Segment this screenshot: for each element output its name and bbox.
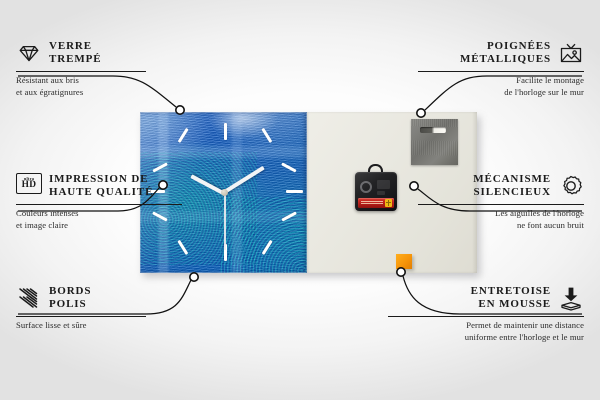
callout-header: ENTRETOISE EN MOUSSE (388, 283, 584, 313)
foam-spacer (396, 254, 412, 269)
callout-divider (418, 71, 584, 72)
hanger-slot (420, 127, 446, 133)
callout-header: BORDS POLIS (16, 283, 212, 313)
callout-title: VERRE TREMPÉ (49, 40, 101, 67)
callout-header: VERRE TREMPÉ (16, 38, 212, 68)
callout-divider (388, 316, 584, 317)
mechanism-detail (377, 191, 385, 195)
callout-header: POIGNÉES MÉTALLIQUES (388, 38, 584, 68)
callout-description: Résistant aux bris et aux égratignures (16, 75, 212, 99)
hd-badge-box: ultra HD (16, 173, 42, 194)
picture-frame-hanger-icon (558, 40, 584, 66)
callout-divider (16, 204, 182, 205)
callout-tempered-glass: VERRE TREMPÉ Résistant aux bris et aux é… (16, 38, 212, 99)
polished-edge-lines-icon (16, 285, 42, 311)
callout-header: ultra HD IMPRESSION DE HAUTE QUALITÉ (16, 171, 212, 201)
callout-description: Facilite le montage de l'horloge sur le … (388, 75, 584, 99)
ultra-hd-icon: ultra HD (16, 173, 42, 199)
callout-high-quality-print: ultra HD IMPRESSION DE HAUTE QUALITÉ Cou… (16, 171, 212, 232)
callout-description: Surface lisse et sûre (16, 320, 212, 332)
callout-title: MÉCANISME SILENCIEUX (473, 173, 551, 200)
callout-title: IMPRESSION DE HAUTE QUALITÉ (49, 173, 153, 200)
callout-header: MÉCANISME SILENCIEUX (388, 171, 584, 201)
callout-divider (418, 204, 584, 205)
hd-badge-main-text: HD (22, 181, 37, 190)
callout-description: Les aiguilles de l'horloge ne font aucun… (388, 208, 584, 232)
callout-metal-handles: POIGNÉES MÉTALLIQUES Facilite le montage… (388, 38, 584, 99)
callout-title: ENTRETOISE EN MOUSSE (471, 285, 551, 312)
callout-description: Couleurs intenses et image claire (16, 208, 212, 232)
callout-divider (16, 71, 146, 72)
callout-silent-mechanism: MÉCANISME SILENCIEUX Les aiguilles de l'… (388, 171, 584, 232)
metal-hanger-plate (411, 119, 458, 165)
callout-title: BORDS POLIS (49, 285, 91, 312)
callout-foam-spacer: ENTRETOISE EN MOUSSE Permet de maintenir… (388, 283, 584, 344)
gear-icon (558, 173, 584, 199)
diamond-gem-icon (16, 40, 42, 66)
callout-title: POIGNÉES MÉTALLIQUES (460, 40, 551, 67)
product-feature-infographic: VERRE TREMPÉ Résistant aux bris et aux é… (0, 0, 600, 400)
callout-description: Permet de maintenir une distance uniform… (388, 320, 584, 344)
mechanism-dial (360, 181, 372, 193)
battery-label (361, 201, 383, 205)
callout-polished-edges: BORDS POLIS Surface lisse et sûre (16, 283, 212, 332)
callout-divider (16, 316, 146, 317)
foam-spacer-arrow-icon (558, 285, 584, 311)
